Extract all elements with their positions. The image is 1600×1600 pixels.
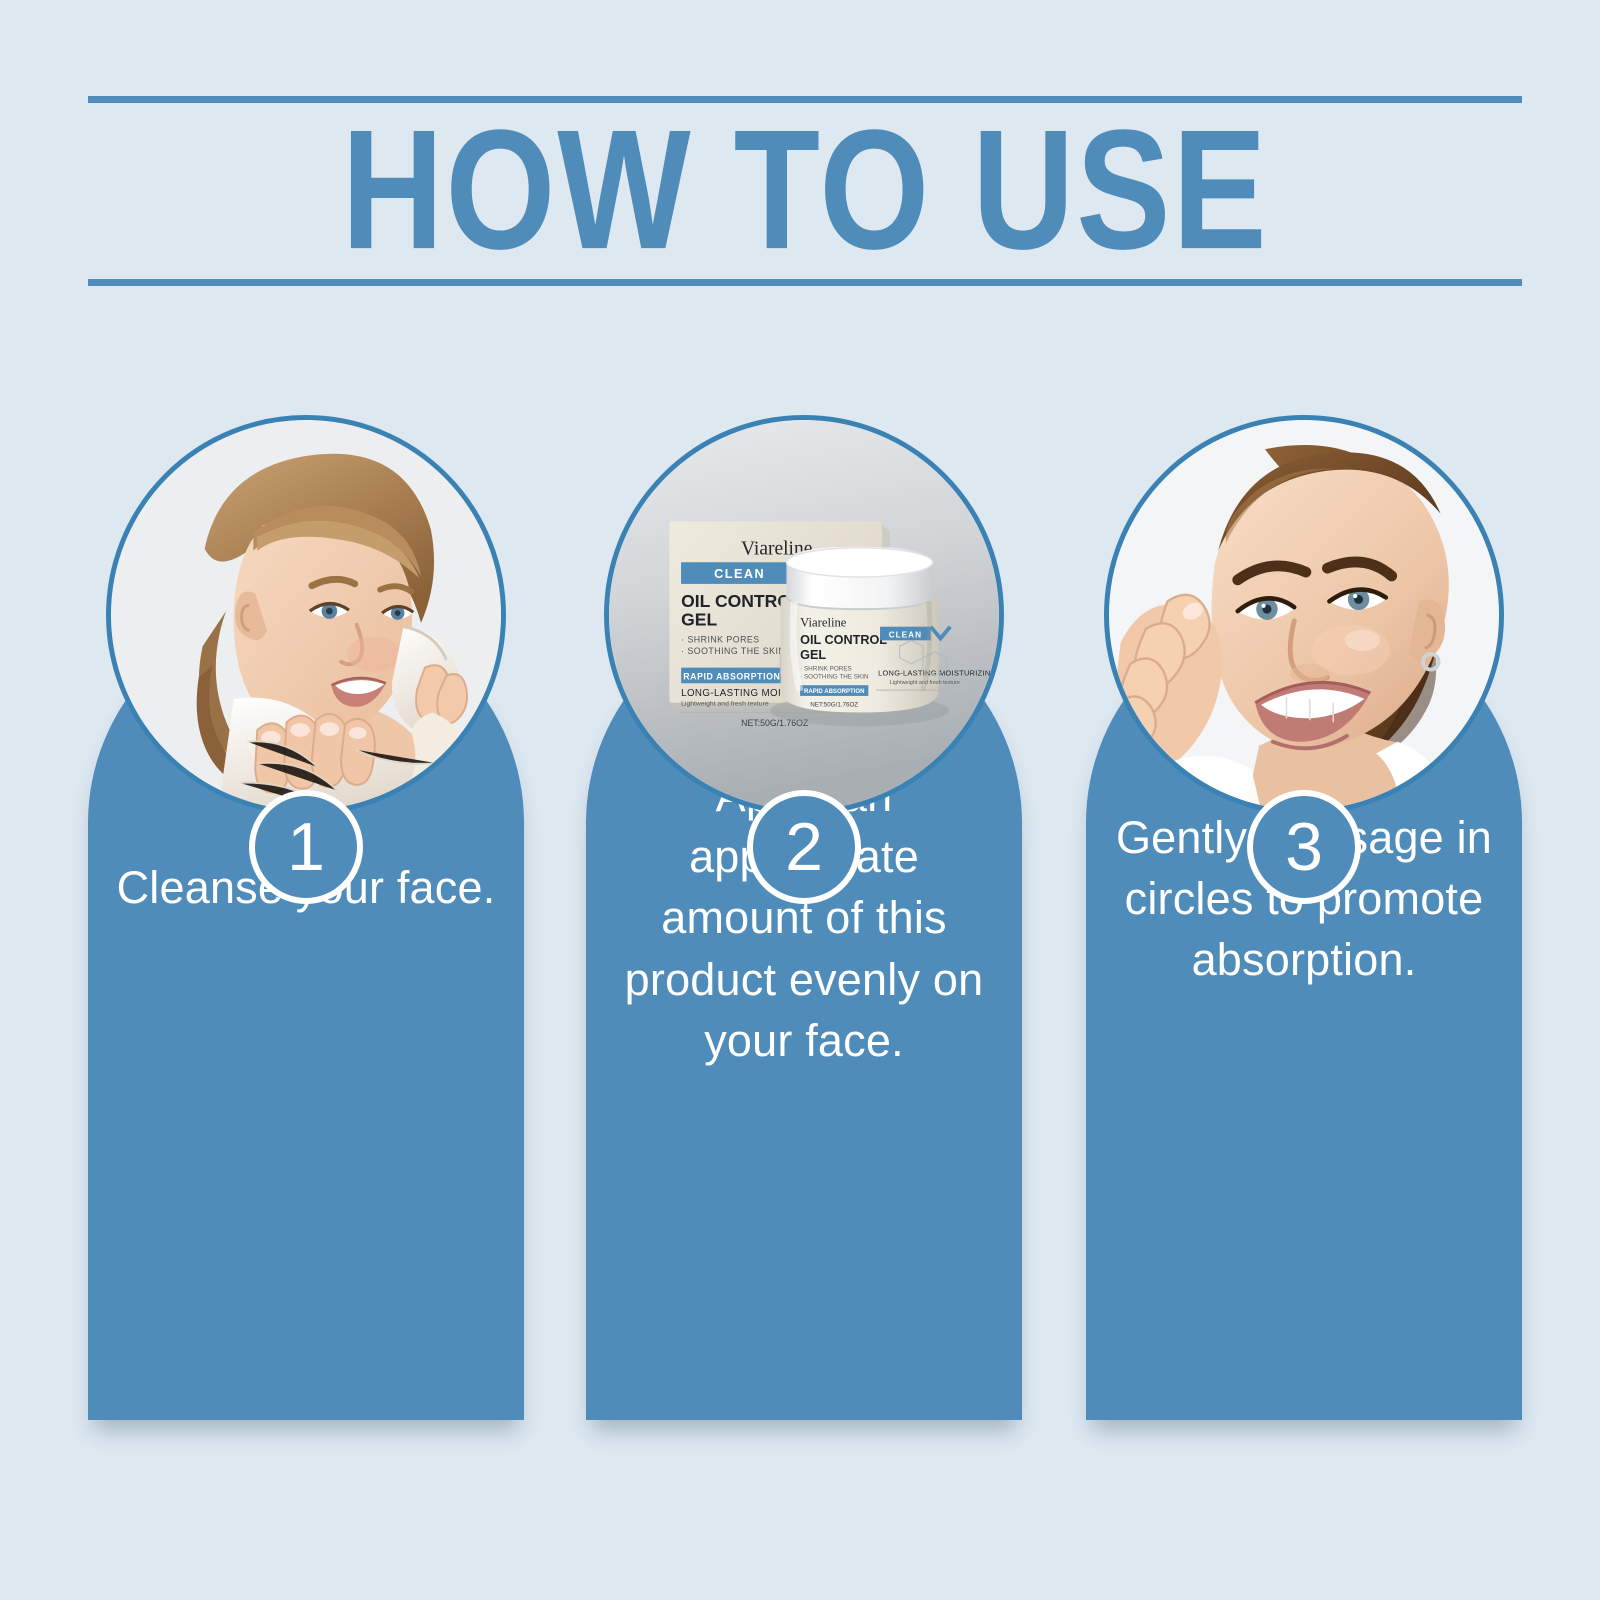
svg-text:Viareline: Viareline: [800, 616, 847, 630]
woman-massaging-face-illustration: [1109, 420, 1499, 810]
svg-text:· SOOTHING THE SKIN: · SOOTHING THE SKIN: [800, 673, 869, 680]
step-number-badge-3: 3: [1247, 790, 1361, 904]
svg-text:CLEAN: CLEAN: [714, 567, 765, 581]
step-photo-2: Viareline CLEAN OIL CONTROL GEL · SHRINK…: [604, 415, 1004, 815]
svg-text:GEL: GEL: [800, 648, 826, 662]
step-card-2[interactable]: Apply an appropriate amount of this prod…: [586, 415, 1022, 1420]
svg-text:Lightweight and fresh texture: Lightweight and fresh texture: [681, 701, 769, 708]
step-card-3[interactable]: Gently massage in circles to promote abs…: [1086, 415, 1522, 1420]
svg-text:RAPID ABSORPTION: RAPID ABSORPTION: [804, 689, 864, 695]
step-card-1[interactable]: Cleanse your face.: [88, 415, 524, 1420]
svg-text:RAPID ABSORPTION: RAPID ABSORPTION: [683, 671, 780, 681]
step-number-badge-2: 2: [747, 790, 861, 904]
svg-text:GEL: GEL: [681, 610, 717, 630]
svg-text:OIL CONTROL: OIL CONTROL: [800, 633, 887, 647]
steps-container: Cleanse your face.: [0, 0, 1600, 1600]
svg-text:· SHRINK PORES: · SHRINK PORES: [681, 634, 759, 644]
svg-text:· SOOTHING THE SKIN: · SOOTHING THE SKIN: [681, 646, 785, 656]
svg-text:NET:50G/1.76OZ: NET:50G/1.76OZ: [810, 702, 858, 709]
step-number-badge-1: 1: [249, 790, 363, 904]
step-photo-3: [1104, 415, 1504, 815]
product-box-and-jar-illustration: Viareline CLEAN OIL CONTROL GEL · SHRINK…: [609, 420, 999, 810]
svg-text:· SHRINK PORES: · SHRINK PORES: [800, 666, 852, 673]
svg-text:LONG-LASTING MOISTURIZING: LONG-LASTING MOISTURIZING: [878, 668, 996, 677]
svg-text:CLEAN: CLEAN: [889, 630, 922, 639]
woman-drying-face-with-towel-illustration: [111, 420, 501, 810]
step-photo-1: [106, 415, 506, 815]
